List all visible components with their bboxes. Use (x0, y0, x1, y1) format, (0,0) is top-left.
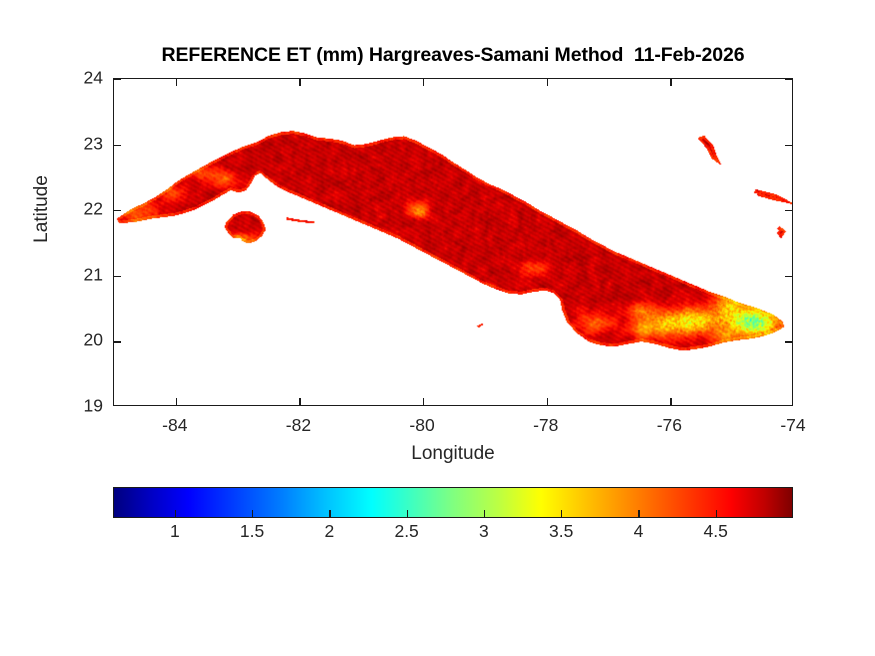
y-tick-label: 19 (57, 396, 103, 417)
colorbar-tick-label: 4.5 (704, 521, 728, 542)
colorbar-tick-label: 1.5 (240, 521, 264, 542)
colorbar[interactable]: 11.522.533.544.5 (113, 487, 793, 518)
colorbar-tick-label: 3 (479, 521, 489, 542)
x-axis-tick (299, 79, 300, 86)
y-tick-label: 23 (57, 133, 103, 154)
x-axis-tick (176, 79, 177, 86)
y-tick-label: 22 (57, 199, 103, 220)
reference-et-heatmap (114, 79, 792, 405)
y-axis-tick (785, 276, 792, 277)
x-tick-label: -82 (286, 415, 311, 436)
x-tick-label: -78 (533, 415, 558, 436)
x-tick-label: -84 (162, 415, 187, 436)
x-tick-label: -76 (657, 415, 682, 436)
colorbar-tick (561, 510, 562, 518)
map-plot-area[interactable] (113, 78, 793, 406)
colorbar-tick-label: 3.5 (549, 521, 573, 542)
colorbar-tick (175, 510, 176, 518)
colorbar-tick-label: 2.5 (394, 521, 418, 542)
colorbar-tick (329, 510, 330, 518)
page-title: REFERENCE ET (mm) Hargreaves-Samani Meth… (113, 44, 793, 67)
x-axis-tick (547, 79, 548, 86)
x-tick-label: -80 (409, 415, 434, 436)
y-axis-tick (114, 276, 121, 277)
colorbar-tick-label: 2 (324, 521, 334, 542)
y-tick-label: 21 (57, 264, 103, 285)
y-axis-tick (114, 145, 121, 146)
x-axis-tick (670, 79, 671, 86)
y-axis-tick (785, 341, 792, 342)
colorbar-tick (638, 510, 639, 518)
colorbar-tick-label: 1 (170, 521, 180, 542)
y-axis-tick (785, 79, 792, 80)
x-axis-tick (423, 398, 424, 405)
y-tick-label: 20 (57, 330, 103, 351)
colorbar-tick (252, 510, 253, 518)
colorbar-gradient (113, 487, 793, 518)
x-axis-label: Longitude (113, 443, 793, 465)
y-axis-label: Latitude (31, 129, 53, 289)
y-axis-tick (114, 79, 121, 80)
figure-window: REFERENCE ET (mm) Hargreaves-Samani Meth… (0, 0, 875, 656)
colorbar-tick-label: 4 (634, 521, 644, 542)
x-axis-tick (423, 79, 424, 86)
y-axis-tick (114, 210, 121, 211)
x-axis-tick (547, 398, 548, 405)
x-axis-tick (299, 398, 300, 405)
y-axis-tick (785, 210, 792, 211)
colorbar-tick (407, 510, 408, 518)
y-tick-label: 24 (57, 68, 103, 89)
x-axis-tick (176, 398, 177, 405)
x-tick-label: -74 (780, 415, 805, 436)
colorbar-tick (484, 510, 485, 518)
colorbar-tick (716, 510, 717, 518)
y-axis-tick (785, 145, 792, 146)
y-axis-tick (114, 341, 121, 342)
x-axis-tick (670, 398, 671, 405)
